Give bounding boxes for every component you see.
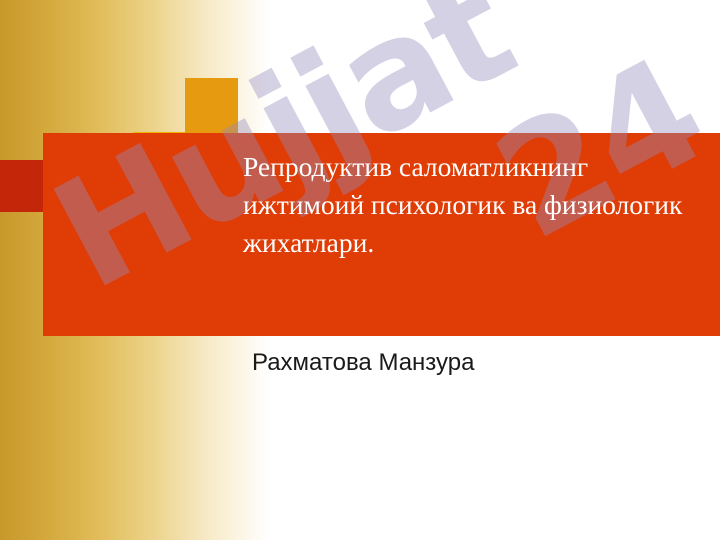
- presentation-slide: Hujjat 24 Репродуктив саломатликнинг ижт…: [0, 0, 720, 540]
- square-orange-top: [185, 78, 238, 133]
- slide-title: Репродуктив саломатликнинг ижтимоий псих…: [243, 148, 703, 262]
- slide-author: Рахматова Манзура: [252, 348, 692, 378]
